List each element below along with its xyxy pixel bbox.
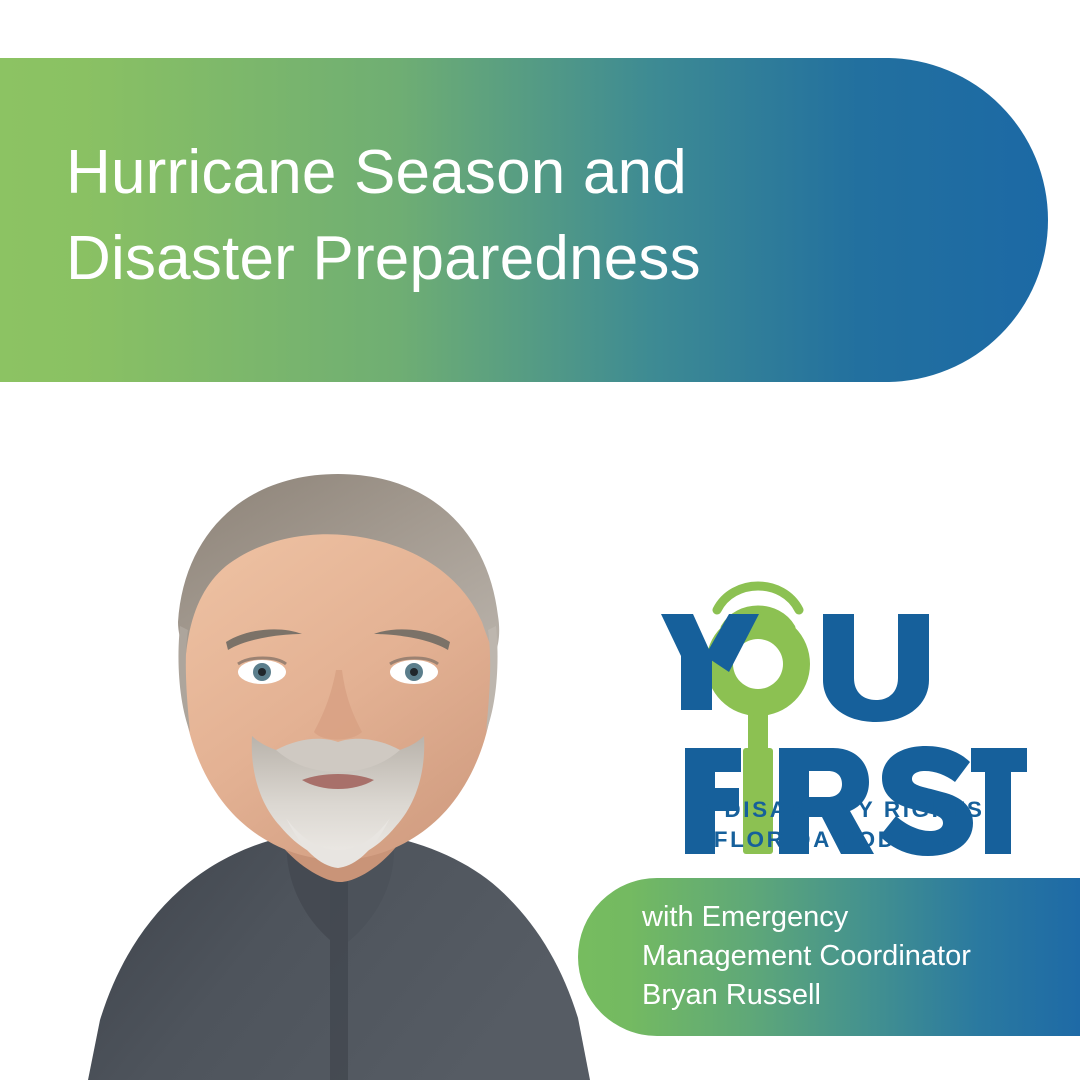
guest-photo: [30, 420, 650, 1080]
you-first-logo: A DISABILITY RIGHTS FLORIDA PODCAST: [655, 552, 1027, 862]
logo-tagline-line-1: A DISABILITY RIGHTS: [655, 795, 1027, 825]
page-title: Hurricane Season and Disaster Preparedne…: [66, 130, 966, 302]
guest-caption-text: with Emergency Management Coordinator Br…: [642, 898, 1062, 1015]
logo-tagline: A DISABILITY RIGHTS FLORIDA PODCAST: [655, 795, 1027, 855]
logo-tagline-line-2: FLORIDA PODCAST: [655, 825, 1027, 855]
guest-photo-image: [30, 420, 650, 1080]
podcast-cover: Hurricane Season and Disaster Preparedne…: [0, 0, 1080, 1080]
